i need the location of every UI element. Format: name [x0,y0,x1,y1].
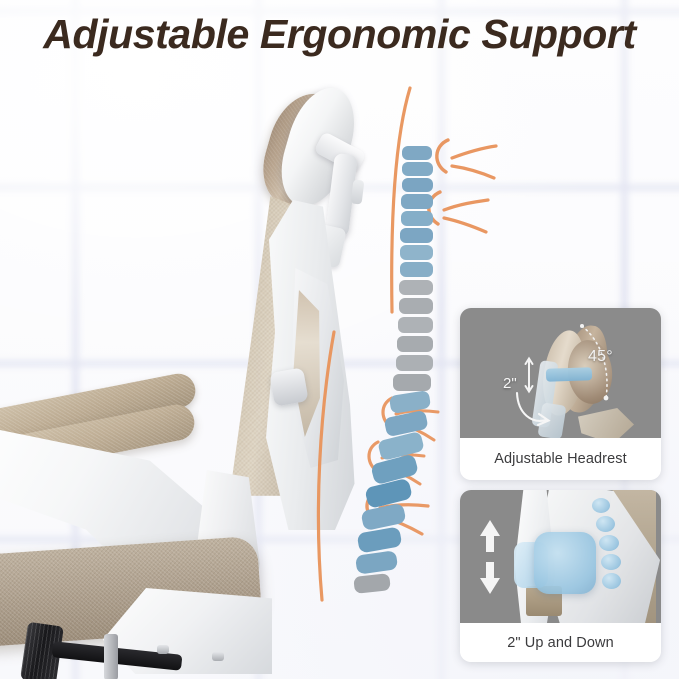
page-title: Adjustable Ergonomic Support [0,9,679,59]
headrest-mechanism-image: 45° 2" [460,308,661,438]
updown-arrows [480,520,500,594]
card-caption-lumbar: 2" Up and Down [460,623,661,662]
seat-bolt-left [157,645,169,654]
pressure-arrow-group-top [429,140,496,232]
lumbar-mechanism-image [460,490,661,623]
adjust-curve-arrow [517,393,549,425]
card-caption-headrest: Adjustable Headrest [460,438,661,480]
height-arrow [526,359,533,392]
height-annotation: 2" [503,375,517,392]
product-feature-image: Adjustable Ergonomic Support [0,0,679,679]
vertebra-cervical-group [400,146,433,277]
cylinder-shaft [104,634,118,679]
feature-card-headrest[interactable]: 45° 2" Adjustable Headrest [460,308,661,480]
spine-curve-lower-orange [318,332,334,600]
feature-card-lumbar[interactable]: 2" Up and Down [460,490,661,662]
vertebra-lumbar-group [353,390,431,594]
seat-bolt-right [212,652,224,661]
vertebra-thoracic-group [393,280,433,391]
angle-annotation: 45° [588,348,613,366]
